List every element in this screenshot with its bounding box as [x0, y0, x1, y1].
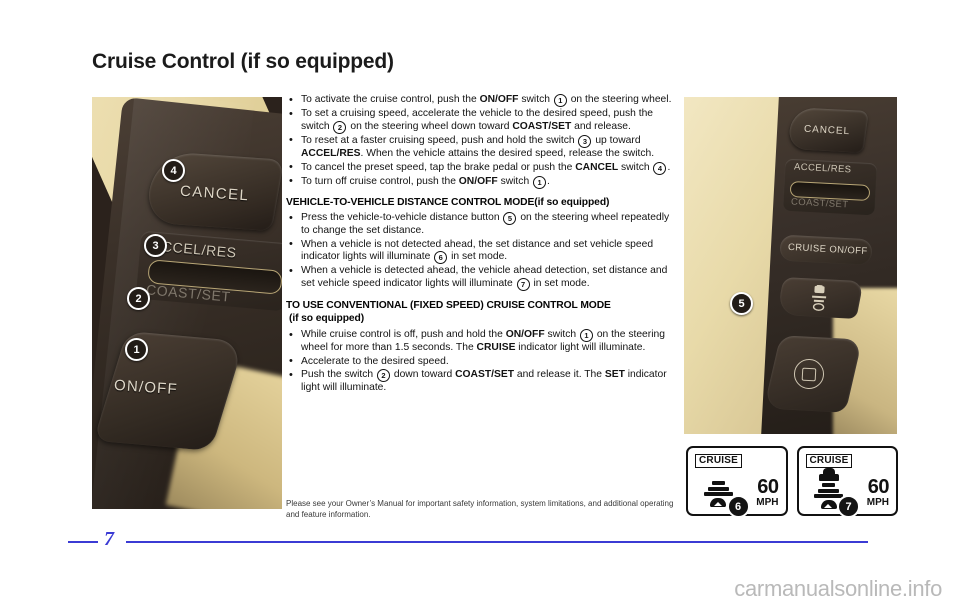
- vehicle-body-decor: [819, 474, 839, 481]
- site-watermark: carmanualsonline.info: [734, 576, 942, 602]
- safety-footnote: Please see your Owner’s Manual for impor…: [286, 499, 678, 520]
- page-rule-right: [126, 541, 868, 543]
- section-heading-conventional-mode: TO USE CONVENTIONAL (FIXED SPEED) CRUISE…: [286, 299, 676, 325]
- set-speed-value: 60: [867, 477, 889, 497]
- list-item: To reset at a faster cruising speed, pus…: [286, 135, 676, 161]
- manual-page: Cruise Control (if so equipped) CANCEL A…: [0, 0, 960, 610]
- set-speed-unit: MPH: [867, 498, 889, 508]
- distance-bar-3: [814, 494, 843, 498]
- steering-wheel-photo-left: CANCEL ACCEL/RES COAST/SET ON/OFF 4 3 2 …: [92, 97, 282, 509]
- set-speed-readout: 60 MPH: [756, 477, 778, 508]
- reference-marker-6: 6: [434, 251, 447, 264]
- callout-7: 7: [837, 495, 860, 518]
- bullet-text: Press the vehicle-to-vehicle distance bu…: [301, 212, 669, 236]
- page-number: 7: [104, 528, 114, 551]
- reference-marker-7: 7: [517, 278, 530, 291]
- list-item: Push the switch 2 down toward COAST/SET …: [286, 369, 676, 395]
- bullet-text: To turn off cruise control, push the ON/…: [301, 176, 550, 187]
- bullet-text: When a vehicle is detected ahead, the ve…: [301, 265, 667, 288]
- conventional-bullet-list: While cruise control is off, push and ho…: [286, 329, 676, 395]
- callout-2: 2: [127, 287, 150, 310]
- set-speed-readout: 60 MPH: [867, 477, 889, 508]
- callout-4: 4: [162, 159, 185, 182]
- instructions-column: To activate the cruise control, push the…: [286, 94, 676, 396]
- list-item: To turn off cruise control, push the ON/…: [286, 176, 676, 189]
- distance-bar-3: [704, 492, 733, 496]
- bullet-text: To activate the cruise control, push the…: [301, 94, 671, 105]
- callout-3: 3: [144, 234, 167, 257]
- reference-marker-1: 1: [533, 176, 546, 189]
- list-item: When a vehicle is detected ahead, the ve…: [286, 265, 676, 291]
- distance-bar-1: [712, 481, 725, 485]
- reference-marker-2: 2: [377, 369, 390, 382]
- vehicle-ahead-icon: [819, 468, 839, 481]
- reference-marker-1: 1: [580, 329, 593, 342]
- list-item: Press the vehicle-to-vehicle distance bu…: [286, 212, 676, 238]
- cancel-switch-label-right: CANCEL: [804, 124, 850, 137]
- cruise-label-badge: CRUISE: [806, 454, 853, 468]
- section-heading-distance-mode: VEHICLE-TO-VEHICLE DISTANCE CONTROL MODE…: [286, 197, 676, 208]
- vehicle-distance-icon: [805, 284, 832, 313]
- list-item: When a vehicle is not detected ahead, th…: [286, 239, 676, 265]
- bullet-text: While cruise control is off, push and ho…: [301, 329, 665, 353]
- reference-marker-2: 2: [333, 121, 346, 134]
- distance-bar-1: [822, 483, 835, 487]
- set-speed-unit: MPH: [756, 498, 778, 508]
- bullet-text: Push the switch 2 down toward COAST/SET …: [301, 369, 667, 393]
- page-rule-left: [68, 541, 98, 543]
- list-item: To activate the cruise control, push the…: [286, 94, 676, 107]
- callout-1: 1: [125, 338, 148, 361]
- list-item: To set a cruising speed, accelerate the …: [286, 108, 676, 134]
- indicator-panel-7: CRUISE 60 MPH 7: [797, 446, 899, 516]
- bullet-text: Accelerate to the desired speed.: [301, 356, 449, 367]
- distance-bar-2: [818, 489, 839, 493]
- indicator-panel-6: CRUISE 60 MPH 6: [686, 446, 788, 516]
- cruise-label-badge: CRUISE: [695, 454, 742, 468]
- own-vehicle-chevron-icon: [710, 498, 726, 507]
- page-title: Cruise Control (if so equipped): [92, 50, 394, 74]
- callout-6: 6: [727, 495, 750, 518]
- distance-bar-2: [708, 487, 729, 491]
- section-heading-line-2: (if so equipped): [286, 312, 676, 325]
- reference-marker-3: 3: [578, 135, 591, 148]
- reference-marker-1: 1: [554, 94, 567, 107]
- section-heading-line-1: TO USE CONVENTIONAL (FIXED SPEED) CRUISE…: [286, 300, 611, 311]
- bullet-text: To set a cruising speed, accelerate the …: [301, 108, 653, 131]
- distance-bullet-list: Press the vehicle-to-vehicle distance bu…: [286, 212, 676, 291]
- callout-5: 5: [730, 292, 753, 315]
- reference-marker-5: 5: [503, 212, 516, 225]
- list-item: To cancel the preset speed, tap the brak…: [286, 162, 676, 175]
- bullet-text: When a vehicle is not detected ahead, th…: [301, 239, 653, 262]
- own-vehicle-chevron-icon: [821, 500, 837, 509]
- cruise-indicator-panels: CRUISE 60 MPH 6 CRUISE: [686, 446, 898, 512]
- bullet-text: To reset at a faster cruising speed, pus…: [301, 135, 654, 159]
- bullet-text: To cancel the preset speed, tap the brak…: [301, 162, 670, 173]
- list-item: Accelerate to the desired speed.: [286, 356, 676, 368]
- steering-wheel-photo-right: CANCEL ACCEL/RES COAST/SET CRUISE ON/OFF…: [684, 97, 897, 434]
- set-speed-value: 60: [756, 477, 778, 497]
- intro-bullet-list: To activate the cruise control, push the…: [286, 94, 676, 189]
- reference-marker-4: 4: [653, 162, 666, 175]
- list-item: While cruise control is off, push and ho…: [286, 329, 676, 355]
